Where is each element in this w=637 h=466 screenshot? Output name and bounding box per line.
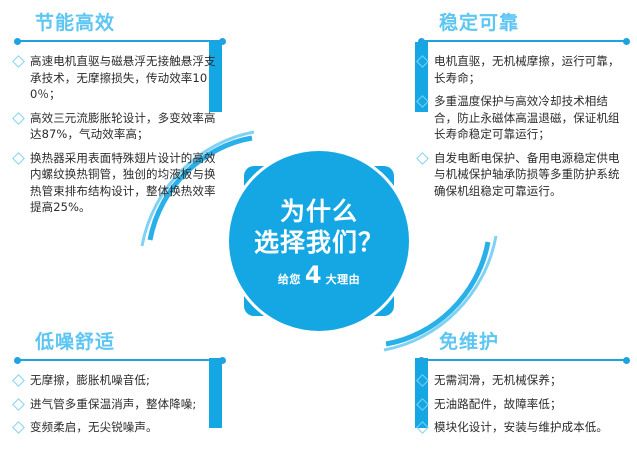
list-item: 无需润滑，无机械保养；: [418, 372, 630, 389]
center-badge-text: 为什么 选择我们？ 给您 4 大理由: [226, 148, 412, 334]
diamond-bullet-icon: [416, 95, 429, 108]
list-item-text: 换热器采用表面特殊翅片设计的高效内螺纹换热铜管，独创的均液板与换热管束排布结构设…: [30, 150, 226, 216]
panel-title: 低噪舒适: [35, 331, 226, 353]
list-item-text: 高速电机直驱与磁悬浮无接触悬浮支承技术，无摩擦损失，传动效率100％；: [30, 53, 226, 103]
center-subline: 给您 4 大理由: [278, 263, 360, 287]
panel-rule: [418, 36, 630, 46]
list-item-text: 自发电断电保护、备用电源稳定供电与机械保护轴承防损等多重防护系统确保机组稳定可靠…: [434, 150, 630, 200]
panel-bullet-list: 高速电机直驱与磁悬浮无接触悬浮支承技术，无摩擦损失，传动效率100％； 高效三元…: [14, 53, 226, 216]
rule-line: [17, 359, 223, 361]
list-item-text: 进气管多重保温消声，整体降噪;: [30, 396, 226, 413]
list-item-text: 无摩擦，膨胀机噪音低;: [30, 372, 226, 389]
list-item: 无摩擦，膨胀机噪音低;: [14, 372, 226, 389]
infographic-root: 为什么 选择我们？ 给您 4 大理由 节能高效 高速电机直驱与磁悬浮无接触悬浮支…: [0, 0, 637, 466]
diamond-bullet-icon: [416, 152, 429, 165]
rule-dot-right: [219, 38, 226, 45]
panel-bullet-list: 无摩擦，膨胀机噪音低; 进气管多重保温消声，整体降噪; 变频柔启，无尖锐噪声。: [14, 372, 226, 436]
list-item: 多重温度保护与高效冷却技术相结合，防止永磁体高温退磁，保证机组长寿命稳定可靠运行…: [418, 93, 630, 143]
list-item: 自发电断电保护、备用电源稳定供电与机械保护轴承防损等多重防护系统确保机组稳定可靠…: [418, 150, 630, 200]
list-item-text: 变频柔启，无尖锐噪声。: [30, 419, 226, 436]
panel-top-right: 稳定可靠 电机直驱，无机械摩擦，运行可靠，长寿命； 多重温度保护与高效冷却技术相…: [418, 12, 630, 199]
list-item-text: 无油路配件，故障率低；: [434, 396, 630, 413]
panel-top-left: 节能高效 高速电机直驱与磁悬浮无接触悬浮支承技术，无摩擦损失，传动效率100％；…: [14, 12, 226, 216]
center-headline-line1: 为什么: [280, 196, 358, 227]
panel-bottom-right: 免维护 无需润滑，无机械保养； 无油路配件，故障率低； 模块化设计，安装与维护成…: [418, 331, 630, 436]
diamond-bullet-icon: [12, 152, 25, 165]
panel-title: 节能高效: [35, 12, 226, 34]
diamond-bullet-icon: [12, 374, 25, 387]
center-badge: 为什么 选择我们？ 给您 4 大理由: [226, 148, 412, 334]
list-item: 进气管多重保温消声，整体降噪;: [14, 396, 226, 413]
center-sub-prefix: 给您: [278, 271, 301, 287]
list-item: 高速电机直驱与磁悬浮无接触悬浮支承技术，无摩擦损失，传动效率100％；: [14, 53, 226, 103]
panel-rule: [14, 36, 226, 46]
list-item: 模块化设计，安装与维护成本低。: [418, 419, 630, 436]
center-sub-number: 4: [305, 263, 322, 287]
list-item: 高效三元流膨胀轮设计，多变效率高达87%，气动效率高；: [14, 110, 226, 143]
list-item-text: 电机直驱，无机械摩擦，运行可靠，长寿命；: [434, 53, 630, 86]
panel-bullet-list: 无需润滑，无机械保养； 无油路配件，故障率低； 模块化设计，安装与维护成本低。: [418, 372, 630, 436]
diamond-bullet-icon: [416, 421, 429, 434]
list-item-text: 无需润滑，无机械保养；: [434, 372, 630, 389]
diamond-bullet-icon: [12, 398, 25, 411]
list-item: 无油路配件，故障率低；: [418, 396, 630, 413]
list-item: 电机直驱，无机械摩擦，运行可靠，长寿命；: [418, 53, 630, 86]
rule-dot-right: [623, 357, 630, 364]
diamond-bullet-icon: [12, 55, 25, 68]
rule-line: [421, 40, 627, 42]
rule-line: [17, 40, 223, 42]
rule-dot-right: [219, 357, 226, 364]
list-item-text: 模块化设计，安装与维护成本低。: [434, 419, 630, 436]
panel-rule: [14, 355, 226, 365]
panel-title: 免维护: [439, 331, 630, 353]
diamond-bullet-icon: [416, 374, 429, 387]
rule-dot-right: [623, 38, 630, 45]
panel-rule: [418, 355, 630, 365]
diamond-bullet-icon: [12, 421, 25, 434]
diamond-bullet-icon: [416, 398, 429, 411]
list-item-text: 多重温度保护与高效冷却技术相结合，防止永磁体高温退磁，保证机组长寿命稳定可靠运行…: [434, 93, 630, 143]
panel-title: 稳定可靠: [439, 12, 630, 34]
diamond-bullet-icon: [416, 55, 429, 68]
list-item: 变频柔启，无尖锐噪声。: [14, 419, 226, 436]
center-sub-suffix: 大理由: [326, 271, 361, 287]
diamond-bullet-icon: [12, 112, 25, 125]
panel-bullet-list: 电机直驱，无机械摩擦，运行可靠，长寿命； 多重温度保护与高效冷却技术相结合，防止…: [418, 53, 630, 199]
rule-line: [421, 359, 627, 361]
list-item-text: 高效三元流膨胀轮设计，多变效率高达87%，气动效率高；: [30, 110, 226, 143]
center-headline-line2: 选择我们？: [254, 227, 384, 258]
list-item: 换热器采用表面特殊翅片设计的高效内螺纹换热铜管，独创的均液板与换热管束排布结构设…: [14, 150, 226, 216]
panel-bottom-left: 低噪舒适 无摩擦，膨胀机噪音低; 进气管多重保温消声，整体降噪; 变频柔启，无尖…: [14, 331, 226, 436]
